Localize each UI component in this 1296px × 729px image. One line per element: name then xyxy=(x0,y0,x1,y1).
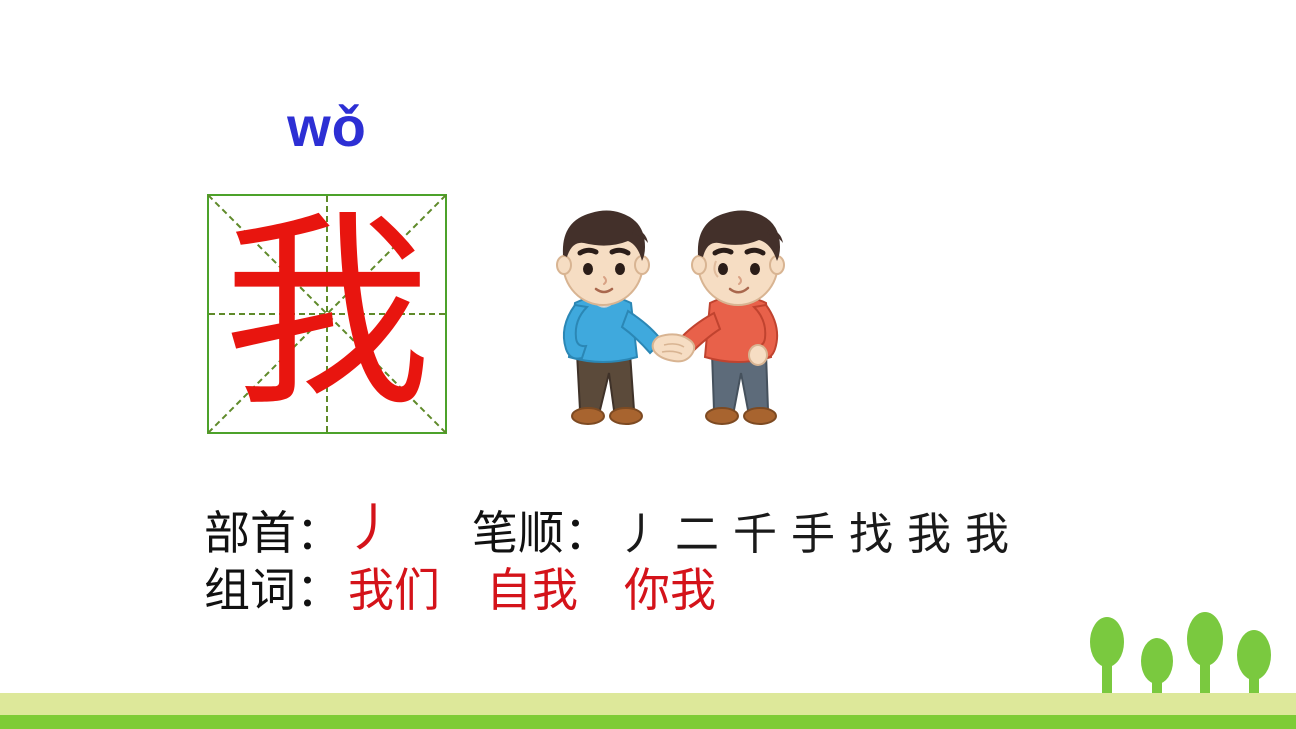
words-label: 组词： xyxy=(204,562,342,618)
radical-glyph: 丿 xyxy=(342,486,400,561)
stroke-step: 二 xyxy=(674,509,720,561)
word-list: 我们 自我 你我 xyxy=(348,562,716,618)
word-item: 你我 xyxy=(624,562,716,618)
footer-band-light xyxy=(0,693,1296,715)
tree-icon xyxy=(1236,630,1272,701)
stroke-order-label: 笔顺： xyxy=(472,505,610,561)
illustration-two-boys-shaking-hands xyxy=(530,195,814,445)
tree-icon xyxy=(1088,617,1126,701)
pinyin-text: wǒ xyxy=(207,96,447,158)
word-item: 自我 xyxy=(486,562,578,618)
word-item: 我们 xyxy=(348,562,440,618)
stroke-step: 我 xyxy=(964,509,1010,561)
stroke-step: 丿 xyxy=(616,509,662,561)
character-glyph: 我 xyxy=(209,196,445,432)
slide-canvas: wǒ 我 xyxy=(0,0,1296,729)
tree-icon xyxy=(1186,612,1224,701)
stroke-step: 我 xyxy=(906,509,952,561)
radical-and-stroke-row: 部首： 丿 笔顺： 丿 二 千 手 找 我 我 xyxy=(204,486,1010,561)
stroke-step: 千 xyxy=(732,509,778,561)
stroke-step: 找 xyxy=(848,509,894,561)
tree-icon xyxy=(1140,638,1174,701)
stroke-order-sequence: 丿 二 千 手 找 我 我 xyxy=(616,509,1010,561)
stroke-step: 手 xyxy=(790,509,836,561)
words-row: 组词： 我们 自我 你我 xyxy=(204,562,716,618)
character-grid: 我 xyxy=(207,194,447,434)
footer-band-green xyxy=(0,715,1296,729)
radical-label: 部首： xyxy=(204,505,342,561)
